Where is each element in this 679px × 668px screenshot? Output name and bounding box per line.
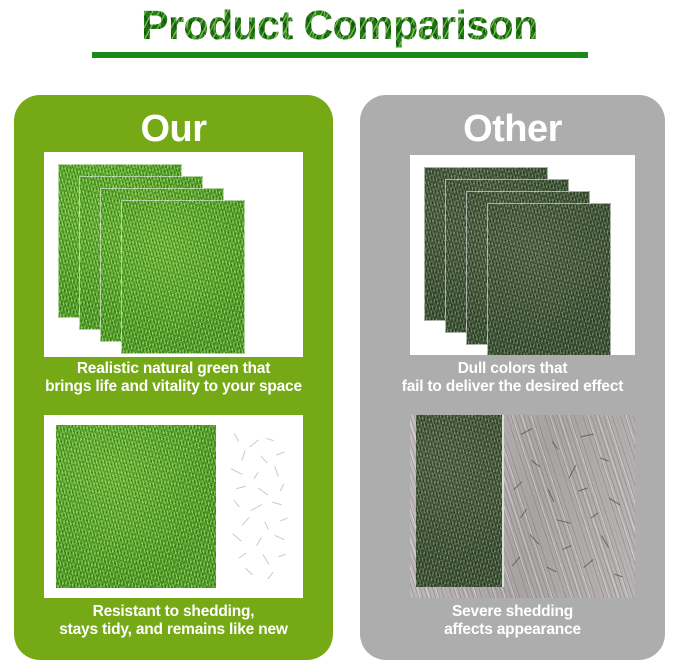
our-caption-bottom-line1: Resistant to shedding, [14,603,333,621]
grass-tile [121,200,245,354]
panel-other: Other Dull colors that fail to deliver t… [360,95,665,660]
other-caption-bottom-line1: Severe shedding [360,603,665,621]
other-caption-top-line2: fail to deliver the desired effect [360,378,665,396]
tile-stack-vibrant [44,152,303,357]
other-grass-tile-stack-image [410,155,635,355]
our-grass-tile-stack-image [44,152,303,357]
loose-fibers-area [226,429,292,587]
our-caption-top-line1: Realistic natural green that [14,360,333,378]
turf-square [56,425,216,588]
our-caption-bottom: Resistant to shedding, stays tidy, and r… [14,603,333,639]
other-caption-bottom: Severe shedding affects appearance [360,603,665,639]
other-caption-top: Dull colors that fail to deliver the des… [360,360,665,396]
panel-our-heading: Our [14,95,333,148]
our-caption-top-line2: brings life and vitality to your space [14,378,333,396]
other-caption-top-line1: Dull colors that [360,360,665,378]
other-caption-bottom-line2: affects appearance [360,621,665,639]
turf-strip [416,415,504,587]
page-title: Product Comparison [141,2,537,48]
panel-our: Our Realistic natural green that brings … [14,95,333,660]
our-caption-bottom-line2: stays tidy, and remains like new [14,621,333,639]
title-underline-rule [92,52,588,58]
our-no-shedding-image [44,415,303,598]
panel-other-heading: Other [360,95,665,148]
grass-tile [487,203,611,355]
our-caption-top: Realistic natural green that brings life… [14,360,333,396]
other-shedding-image [410,415,635,598]
tile-stack-dull [410,155,635,355]
